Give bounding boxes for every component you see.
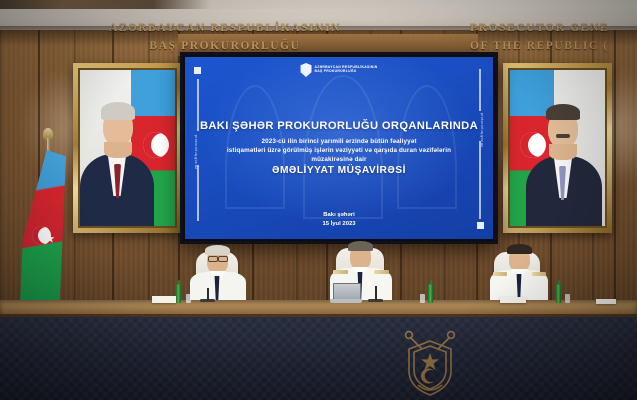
water-bottle <box>428 284 433 303</box>
document-papers <box>596 299 616 304</box>
screen-meeting-type: ƏMƏLİYYAT MÜŞAVİRƏSİ <box>185 165 493 176</box>
screen-footer: Bakı şəhəri 15 İyul 2023 <box>185 211 493 229</box>
document-papers <box>152 296 176 303</box>
podium-en-line2: OF THE REPUBLIC ( <box>470 38 637 56</box>
podium-text-azerbaijani: AZƏRBAYCAN RESPUBLİKASININ BAŞ PROKURORL… <box>84 20 366 56</box>
drinking-glass <box>186 294 191 303</box>
screen-logo: AZƏRBAYCAN RESPUBLİKASININ BAŞ PROKURORL… <box>301 63 378 77</box>
screen-footer-place: Bakı şəhəri <box>185 211 493 220</box>
microphone <box>375 286 377 300</box>
drinking-glass <box>420 294 425 303</box>
screen-subtitle-line-3: müzakirəsinə dair <box>191 155 487 164</box>
screen-subtitle-line-1: 2023-cü ilin birinci yarımili ərzində bü… <box>191 137 487 146</box>
screen-subtitle: 2023-cü ilin birinci yarımili ərzində bü… <box>191 137 487 164</box>
glasses-icon <box>218 256 228 262</box>
water-bottle <box>556 284 561 303</box>
prosecutor-general-emblem-icon <box>301 63 312 77</box>
podium-text-english: PROSECUTOR GENE OF THE REPUBLIC ( <box>470 20 637 56</box>
podium-en-line1: PROSECUTOR GENE <box>470 20 637 38</box>
podium-az-line1: AZƏRBAYCAN RESPUBLİKASININ <box>84 20 366 38</box>
epaulette-left <box>493 272 507 276</box>
conference-hall-photo: prokurorluq.gov.az prokurorluq.gov.az AZ… <box>0 0 637 400</box>
water-bottle <box>176 284 181 303</box>
epaulette-right <box>532 272 546 276</box>
portrait-heydar-aliyev <box>73 63 182 233</box>
screen-title: BAKI ŞƏHƏR PROKURORLUĞU ORQANLARINDA <box>185 120 493 132</box>
portrait-ilham-aliyev <box>503 63 612 233</box>
podium-front-panel <box>0 317 637 400</box>
epaulette-left <box>333 270 348 274</box>
drinking-glass <box>565 294 570 303</box>
projection-screen: prokurorluq.gov.az prokurorluq.gov.az AZ… <box>180 52 498 244</box>
glasses-icon <box>208 256 218 262</box>
prosecutor-shield-emblem <box>398 327 462 397</box>
screen-logo-line2: BAŞ PROKURORLUĞU <box>315 70 378 74</box>
document-papers <box>500 297 526 303</box>
laptop-keyboard <box>330 299 362 303</box>
screen-footer-date: 15 İyul 2023 <box>185 220 493 229</box>
screen-subtitle-line-2: istiqamətləri üzrə görülmüş işlərin vəzi… <box>191 146 487 155</box>
ceiling-trim <box>0 0 637 9</box>
microphone <box>207 288 209 300</box>
epaulette-right <box>374 270 389 274</box>
podium-az-line2: BAŞ PROKURORLUĞU <box>84 38 366 56</box>
